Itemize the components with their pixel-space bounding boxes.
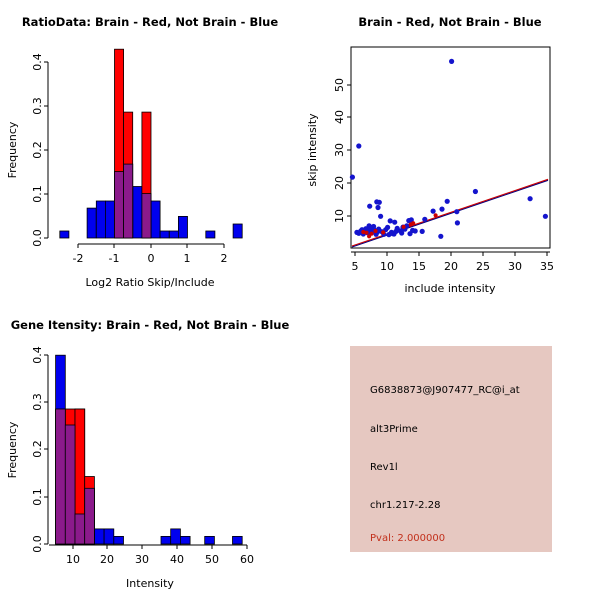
svg-text:25: 25 [476, 260, 490, 273]
svg-text:15: 15 [412, 260, 426, 273]
svg-text:0.0: 0.0 [31, 535, 44, 553]
gene-intensity-panel: Gene Itensity: Brain - Red, Not Brain - … [0, 300, 300, 600]
gene-info-box: G6838873@J907477_RC@i_at alt3Prime Rev1l… [350, 346, 552, 552]
intensity-scatter-svg: 50 40 30 20 10 skip intensity 5 10 15 [300, 0, 600, 300]
gene-info-panel: G6838873@J907477_RC@i_at alt3Prime Rev1l… [300, 300, 600, 600]
scatter-fit-lines [352, 179, 548, 247]
svg-text:20: 20 [333, 176, 346, 190]
ratio-histogram-svg: 0.4 0.3 0.2 0.1 0.0 Frequency -2 -1 0 1 … [0, 0, 300, 300]
svg-text:35: 35 [540, 260, 554, 273]
gene-intensity-title: Gene Itensity: Brain - Red, Not Brain - … [0, 318, 300, 332]
gene-symbol-label: Rev1l [370, 462, 398, 473]
svg-text:Frequency: Frequency [6, 421, 19, 478]
svg-text:40: 40 [333, 110, 346, 124]
plot-page: RatioData: Brain - Red, Not Brain - Blue… [0, 0, 600, 600]
ratio-x-axis: -2 -1 0 1 2 Log2 Ratio Skip/Include [73, 244, 228, 289]
intensity-scatter-title: Brain - Red, Not Brain - Blue [300, 15, 600, 29]
svg-text:0.3: 0.3 [31, 393, 44, 411]
ratio-histogram-panel: RatioData: Brain - Red, Not Brain - Blue… [0, 0, 300, 300]
svg-text:Frequency: Frequency [6, 121, 19, 178]
gene-x-axis: 10 20 30 40 50 60 Intensity [49, 545, 254, 590]
svg-text:0.4: 0.4 [31, 53, 44, 71]
svg-text:40: 40 [170, 553, 184, 566]
svg-text:50: 50 [205, 553, 219, 566]
svg-text:2: 2 [221, 252, 228, 265]
svg-text:20: 20 [100, 553, 114, 566]
gene-y-axis: 0.4 0.3 0.2 0.1 0.0 Frequency [6, 346, 48, 553]
event-type-label: alt3Prime [370, 424, 418, 435]
scatter-y-axis: 50 40 30 20 10 skip intensity [306, 78, 351, 223]
svg-text:10: 10 [333, 209, 346, 223]
svg-text:50: 50 [333, 78, 346, 92]
svg-text:5: 5 [352, 260, 359, 273]
svg-text:30: 30 [333, 143, 346, 157]
ratio-bars-red [115, 49, 152, 238]
ratio-histogram-title: RatioData: Brain - Red, Not Brain - Blue [0, 15, 300, 29]
svg-text:0: 0 [148, 252, 155, 265]
intensity-scatter-panel: Brain - Red, Not Brain - Blue 50 40 30 2… [300, 0, 600, 300]
svg-text:-1: -1 [109, 252, 120, 265]
svg-text:Intensity: Intensity [126, 577, 174, 590]
svg-text:20: 20 [444, 260, 458, 273]
svg-text:0.4: 0.4 [31, 346, 44, 364]
probe-id-label: G6838873@J907477_RC@i_at [370, 385, 520, 396]
svg-text:0.2: 0.2 [31, 141, 44, 159]
pval-label: Pval: 2.000000 [370, 533, 445, 544]
locus-label: chr1.217-2.28 [370, 500, 440, 511]
svg-text:60: 60 [240, 553, 254, 566]
svg-text:0.1: 0.1 [31, 488, 44, 506]
svg-text:10: 10 [380, 260, 394, 273]
svg-text:0.1: 0.1 [31, 185, 44, 203]
svg-text:1: 1 [184, 252, 191, 265]
svg-text:include intensity: include intensity [404, 282, 496, 295]
svg-text:skip intensity: skip intensity [306, 113, 319, 187]
scatter-points-blue [350, 59, 548, 239]
gene-bars-red [56, 409, 95, 544]
svg-text:0.2: 0.2 [31, 440, 44, 458]
svg-text:0.3: 0.3 [31, 97, 44, 115]
gene-intensity-svg: 0.4 0.3 0.2 0.1 0.0 Frequency 10 20 30 4… [0, 300, 300, 600]
scatter-x-axis: 5 10 15 20 25 30 35 include intensity [351, 252, 554, 295]
svg-text:30: 30 [135, 553, 149, 566]
svg-text:30: 30 [508, 260, 522, 273]
ratio-y-axis: 0.4 0.3 0.2 0.1 0.0 Frequency [6, 53, 48, 247]
svg-text:Log2 Ratio Skip/Include: Log2 Ratio Skip/Include [85, 276, 214, 289]
svg-text:0.0: 0.0 [31, 229, 44, 247]
svg-text:10: 10 [66, 553, 80, 566]
svg-text:-2: -2 [73, 252, 84, 265]
